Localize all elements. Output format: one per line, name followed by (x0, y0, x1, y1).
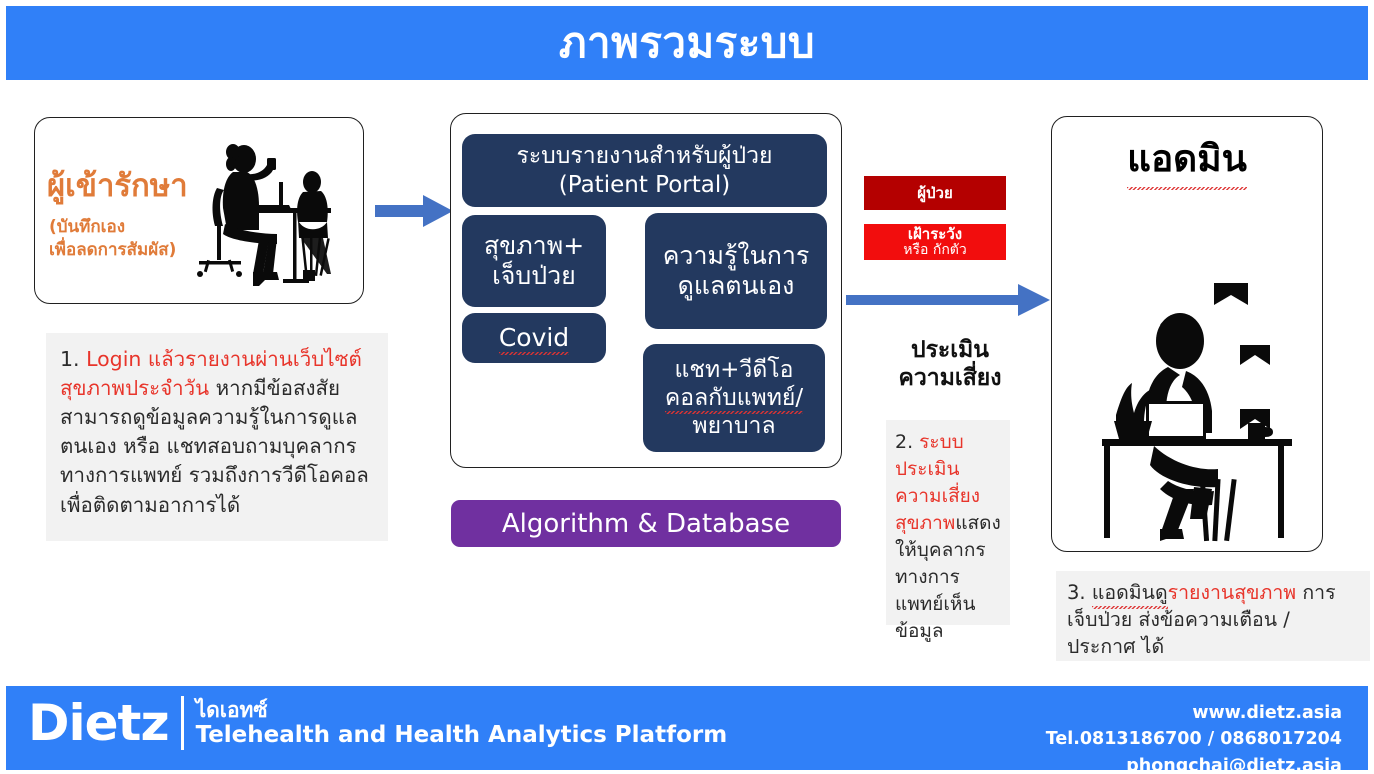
box-health-illness-line2: เจ็บป่วย (492, 261, 576, 290)
brand-tagline-block: ไดเอทซ์ Telehealth and Health Analytics … (196, 698, 728, 749)
logo-divider (181, 696, 184, 750)
brand-name-thai: ไดเอทซ์ (196, 698, 728, 722)
patient-desc-number: 1. (60, 347, 86, 371)
admin-desc-prefix: แอดมินดู (1092, 580, 1168, 607)
box-health-illness[interactable]: สุขภาพ+ เจ็บป่วย (462, 215, 606, 307)
box-chat-video-call[interactable]: แชท+วีดีโอ คอลกับแพทย์/ พยาบาล (643, 344, 825, 452)
box-chat-line1: แชท+วีดีโอ (675, 357, 794, 383)
box-chat-line3: พยาบาล (692, 413, 775, 439)
admin-desc-number: 3. (1067, 581, 1092, 604)
box-self-care-line2: ดูแลตนเอง (678, 271, 795, 300)
contact-info: www.dietz.asia Tel.0813186700 / 08680172… (1046, 700, 1342, 774)
contact-phone: Tel.0813186700 / 0868017204 (1046, 726, 1342, 752)
brand-logo-wordmark: Dietz (28, 698, 169, 748)
box-health-illness-line1: สุขภาพ+ (484, 231, 584, 260)
page-title: ภาพรวมระบบ (559, 22, 815, 64)
patient-panel: ผู้เข้ารักษา (บันทึกเอง เพื่อลดการสัมผัส… (34, 117, 364, 304)
box-self-care-knowledge[interactable]: ความรู้ในการ ดูแลตนเอง (645, 213, 827, 329)
box-patient-portal-line2: (Patient Portal) (559, 172, 730, 198)
slide-footer: Dietz ไดเอทซ์ Telehealth and Health Anal… (6, 686, 1368, 770)
patient-portal-panel: ระบบรายงานสำหรับผู้ป่วย (Patient Portal)… (450, 113, 842, 468)
risk-heading-line2: ความเสี่ยง (899, 365, 1002, 391)
algorithm-database-bar[interactable]: Algorithm & Database (451, 500, 841, 547)
status-badge-watch-quarantine: เฝ้าระวัง หรือ กักตัว (864, 224, 1006, 260)
person-at-desk-icon (197, 134, 355, 289)
patient-sublabel-line1: (บันทึกเอง (49, 217, 125, 237)
algorithm-database-label: Algorithm & Database (502, 509, 790, 539)
slide-header: ภาพรวมระบบ (6, 6, 1368, 80)
admin-description-box: 3. แอดมินดูรายงานสุขภาพ การเจ็บป่วย ส่งข… (1056, 571, 1370, 661)
box-covid[interactable]: Covid (462, 313, 606, 363)
status-badge-watch-line2: หรือ กักตัว (903, 243, 967, 259)
status-badge-watch-line1: เฝ้าระวัง (908, 226, 962, 243)
admin-panel: แอดมิน (1051, 116, 1323, 552)
box-covid-label: Covid (499, 323, 569, 354)
arrow-patient-to-portal (375, 193, 453, 229)
brand-tagline: Telehealth and Health Analytics Platform (196, 722, 728, 748)
box-patient-portal-line1: ระบบรายงานสำหรับผู้ป่วย (516, 143, 772, 169)
risk-assessment-heading: ประเมิน ความเสี่ยง (868, 337, 1032, 392)
box-self-care-line1: ความรู้ในการ (663, 241, 810, 270)
box-patient-portal[interactable]: ระบบรายงานสำหรับผู้ป่วย (Patient Portal) (462, 134, 827, 207)
patient-sublabel-line2: เพื่อลดการสัมผัส) (49, 240, 176, 260)
arrow-risk-to-admin (846, 282, 1050, 318)
admin-at-desk-icon (1102, 283, 1292, 543)
patient-description-box: 1. Login แล้วรายงานผ่านเว็บไซต์สุขภาพประ… (46, 333, 388, 541)
patient-desc-highlight-2: สุขภาพประจำวัน (60, 376, 209, 400)
status-badge-patient: ผู้ป่วย (864, 176, 1006, 210)
contact-email[interactable]: phongchai@dietz.asia (1046, 753, 1342, 774)
status-badge-patient-label: ผู้ป่วย (917, 185, 953, 202)
patient-desc-highlight-1: Login แล้วรายงานผ่านเว็บไซต์ (86, 347, 362, 371)
slide-canvas: ภาพรวมระบบ ผู้เข้ารักษา (บันทึกเอง เพื่อ… (0, 0, 1374, 774)
admin-panel-title-label: แอดมิน (1127, 129, 1247, 188)
risk-heading-line1: ประเมิน (911, 337, 989, 363)
admin-panel-title: แอดมิน (1052, 129, 1322, 188)
risk-assessment-description-box: 2. ระบบประเมินความเสี่ยงสุขภาพแสดงให้บุค… (886, 420, 1010, 625)
risk-desc-number: 2. (895, 431, 919, 453)
admin-desc-highlight: รายงานสุขภาพ (1168, 581, 1297, 604)
brand-logo: Dietz ไดเอทซ์ Telehealth and Health Anal… (28, 696, 727, 750)
box-chat-line2: คอลกับแพทย์/ (665, 384, 803, 412)
contact-website[interactable]: www.dietz.asia (1046, 700, 1342, 726)
